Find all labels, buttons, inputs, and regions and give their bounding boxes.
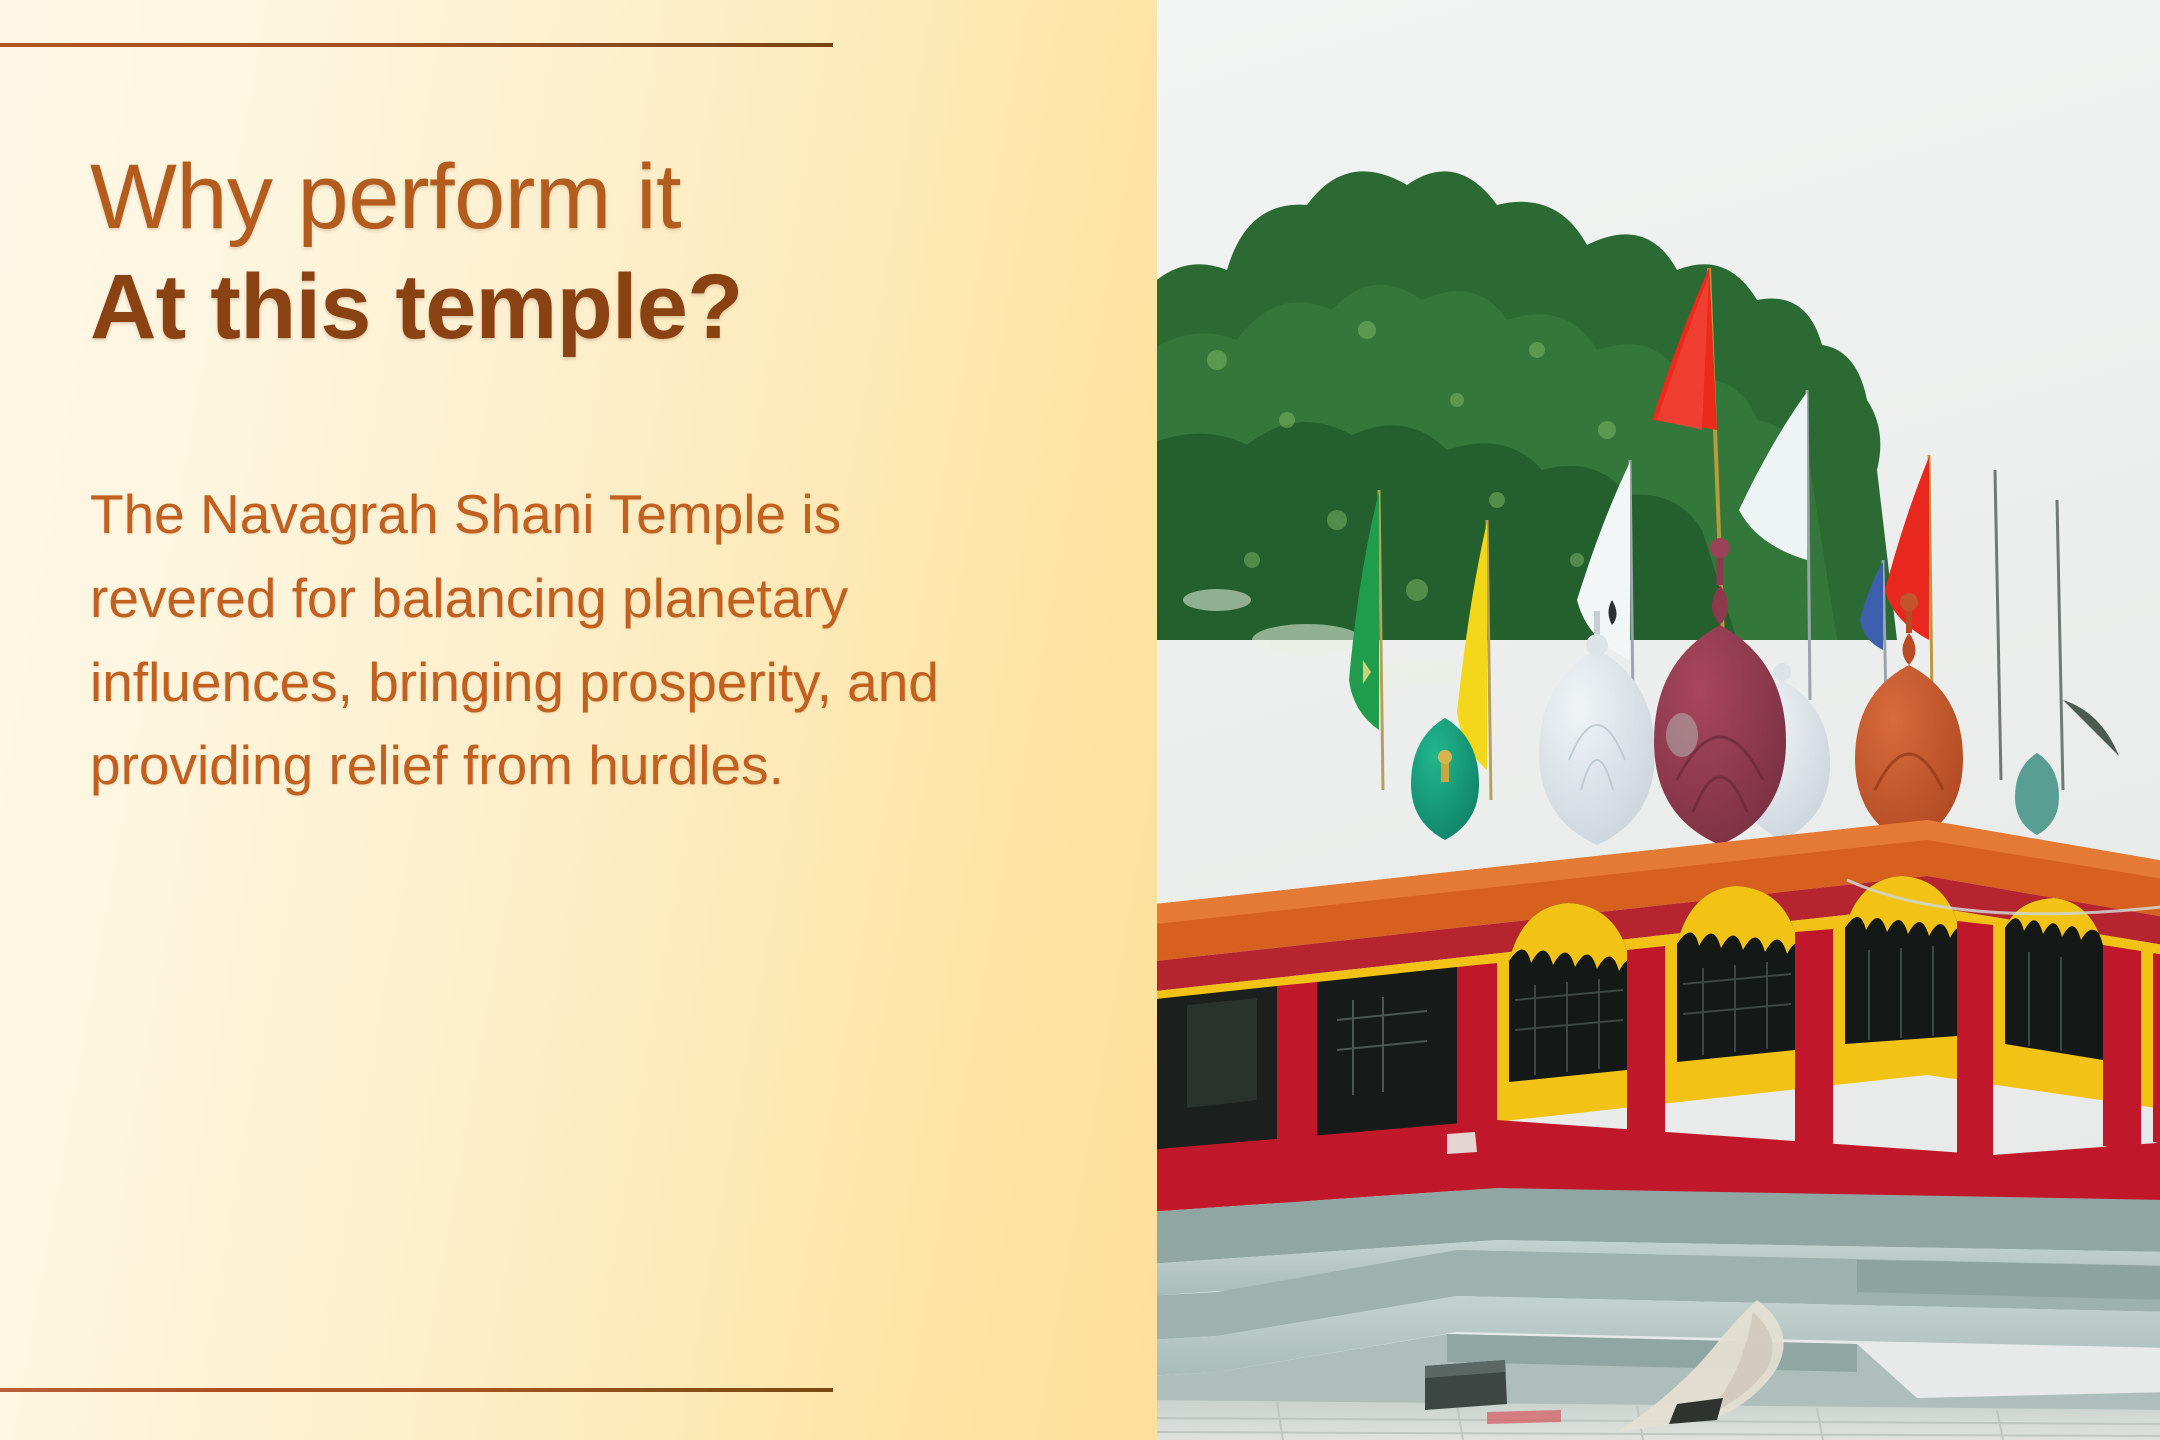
headline-line-1: Why perform it [90,150,1090,246]
top-divider-rule [0,43,833,47]
page-title: Why perform it At this temple? [90,150,1090,355]
temple-photo [1157,0,2160,1440]
body-paragraph: The Navagrah Shani Temple is revered for… [90,473,990,807]
bottom-divider-rule [0,1388,833,1392]
headline-line-2: At this temple? [90,260,1090,356]
text-panel: Why perform it At this temple? The Navag… [0,0,1157,1440]
temple-illustration [1157,0,2160,1440]
slide-root: Why perform it At this temple? The Navag… [0,0,2160,1440]
panel-content: Why perform it At this temple? The Navag… [90,150,1090,808]
